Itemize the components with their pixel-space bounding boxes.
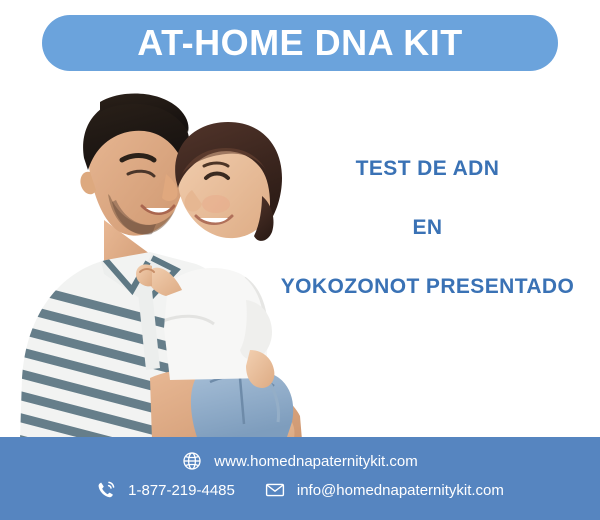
email-text: info@homednapaternitykit.com (297, 483, 504, 498)
page-title: AT-HOME DNA KIT (137, 25, 462, 61)
header-pill: AT-HOME DNA KIT (42, 15, 558, 71)
hero-photo (0, 78, 320, 440)
globe-icon (182, 451, 202, 471)
phone-text: 1-877-219-4485 (128, 483, 235, 498)
footer-contact-row: 1-877-219-4485 info@homednapaternitykit.… (0, 480, 600, 500)
envelope-icon (265, 480, 285, 500)
father-and-child-illustration (0, 78, 320, 440)
phone-item[interactable]: 1-877-219-4485 (96, 480, 235, 500)
email-item[interactable]: info@homednapaternitykit.com (265, 480, 504, 500)
website-text: www.homednapaternitykit.com (214, 454, 417, 469)
contact-footer: www.homednapaternitykit.com 1-877-219-44… (0, 437, 600, 520)
footer-website-row: www.homednapaternitykit.com (0, 451, 600, 471)
promo-banner: AT-HOME DNA KIT (0, 0, 600, 520)
phone-icon (96, 480, 116, 500)
website-item[interactable]: www.homednapaternitykit.com (182, 451, 417, 471)
